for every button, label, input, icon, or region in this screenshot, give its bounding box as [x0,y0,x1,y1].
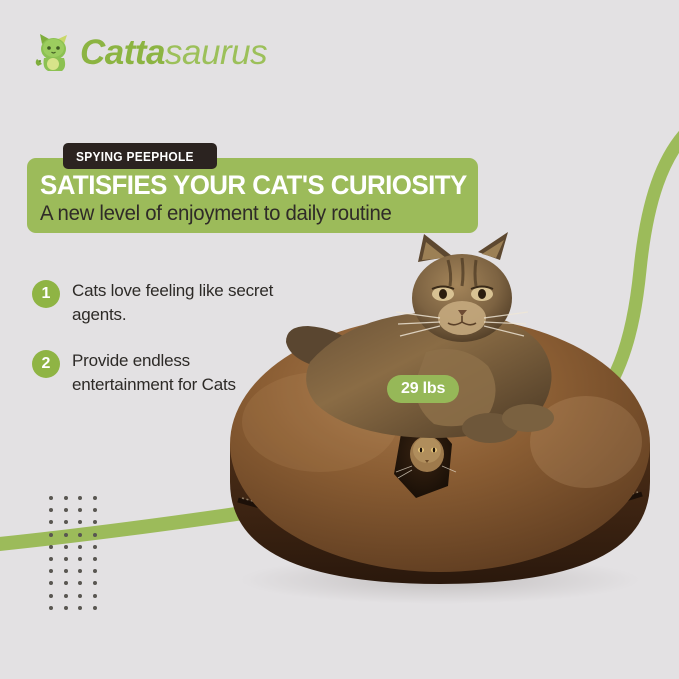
cat-lying-on-bed [286,232,554,443]
brand-name: Cattasaurus [80,35,267,70]
bullet-text: Cats love feeling like secret agents. [72,279,277,327]
banner-subtitle: A new level of enjoyment to daily routin… [40,202,392,226]
eyebrow-badge-label: SPYING PEEPHOLE [76,149,194,164]
headline-banner: SATISFIES YOUR CAT'S CURIOSITY A new lev… [27,158,478,233]
bullet-number: 1 [32,280,60,308]
banner-title: SATISFIES YOUR CAT'S CURIOSITY [40,170,467,201]
infographic-canvas: Cattasaurus SATISFIES YOUR CAT'S CURIOSI… [0,0,679,679]
cat-mascot-icon [34,30,74,74]
weight-badge: 29 lbs [387,375,459,403]
cat-paw-right [502,404,554,432]
dot-grid-decoration [44,492,102,614]
bullet-text: Provide endless entertainment for Cats [72,349,277,397]
feature-list: 1 Cats love feeling like secret agents. … [32,279,277,420]
brand-logo: Cattasaurus [34,30,267,74]
list-item: 2 Provide endless entertainment for Cats [32,349,277,397]
bullet-number: 2 [32,350,60,378]
eyebrow-badge: SPYING PEEPHOLE [63,143,217,169]
brand-name-light: saurus [165,33,267,72]
brand-name-bold: Catta [80,33,165,72]
weight-badge-label: 29 lbs [401,380,445,398]
list-item: 1 Cats love feeling like secret agents. [32,279,277,327]
